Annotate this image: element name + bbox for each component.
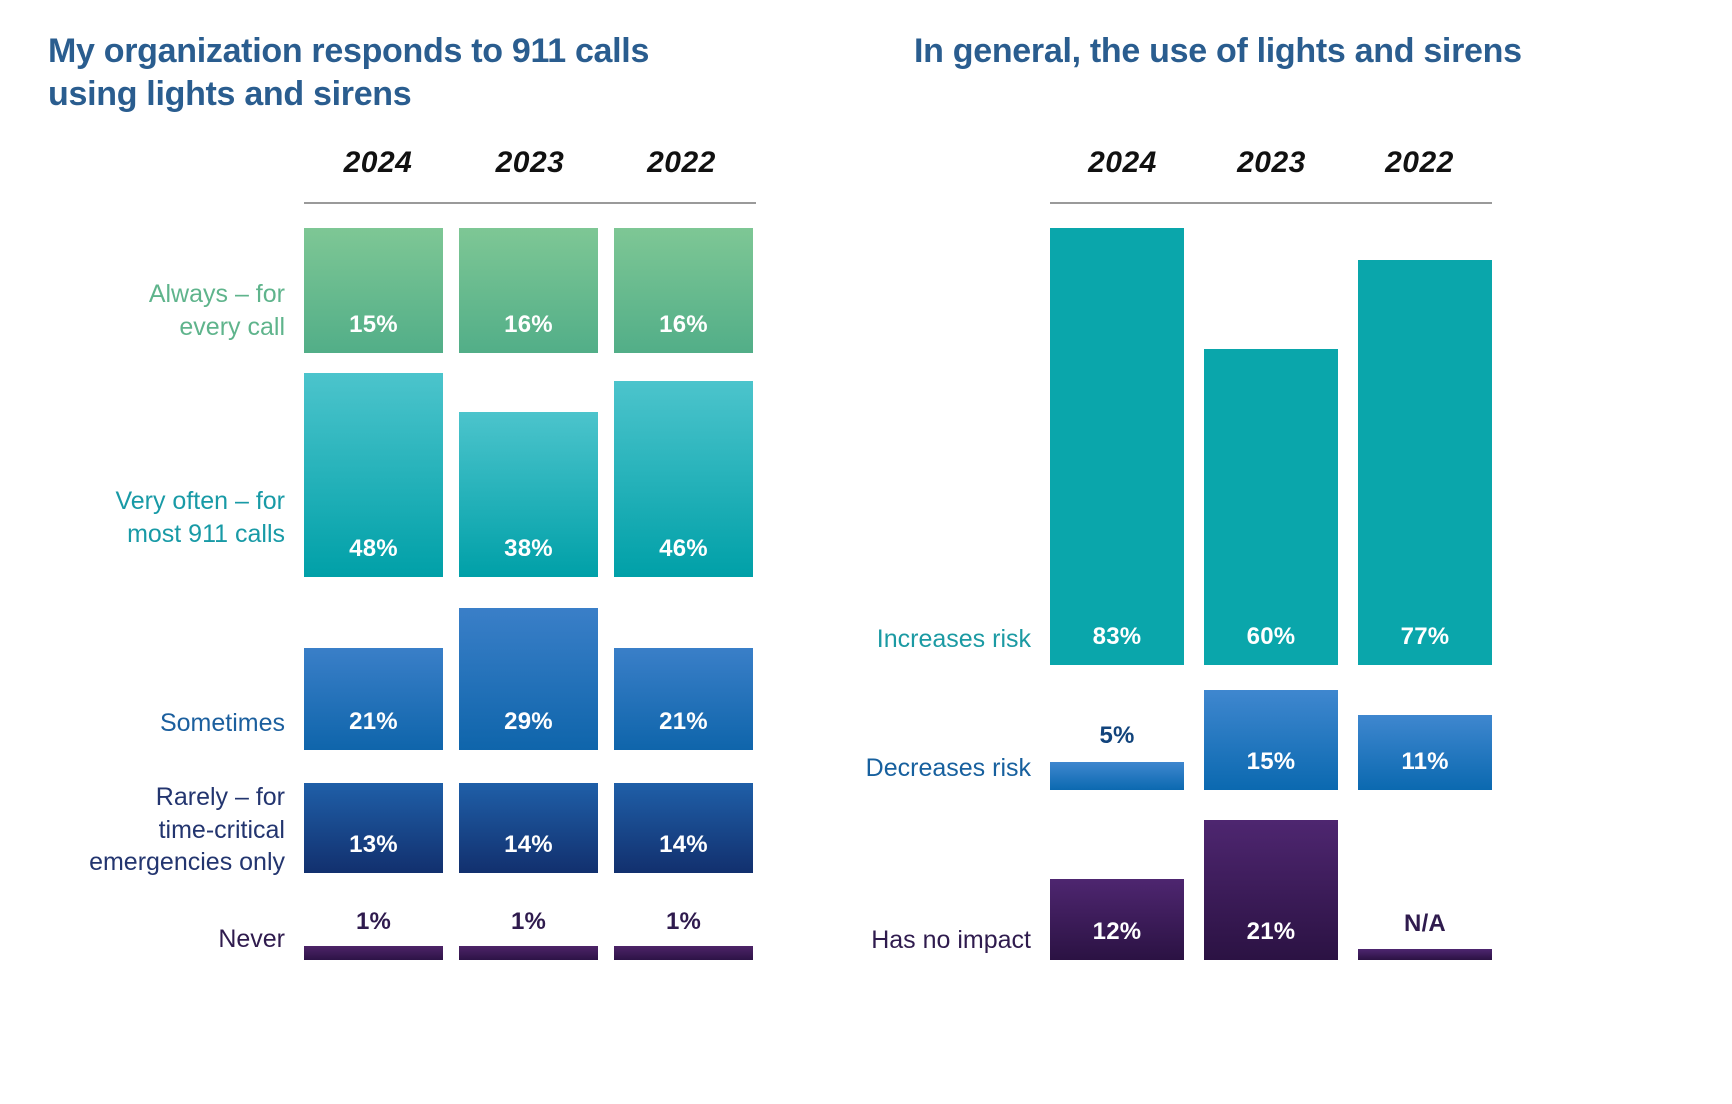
right-plot-area: Increases risk 83% 60% 77% Decreases ris… bbox=[866, 0, 1732, 1104]
right-bar-slot-decreases-2022: 11% bbox=[1358, 690, 1492, 790]
right-bar-slot-increases-2024: 83% bbox=[1050, 228, 1184, 665]
right-row-label-increases-risk: Increases risk bbox=[846, 623, 1031, 656]
right-bar-slot-increases-2023: 60% bbox=[1204, 228, 1338, 665]
right-bar-value-increases-2024: 83% bbox=[1093, 623, 1142, 651]
right-bar-slot-decreases-2023: 15% bbox=[1204, 690, 1338, 790]
right-bar-decreases-2023[interactable]: 15% bbox=[1204, 690, 1338, 790]
left-row-label-always: Always – for every call bbox=[20, 278, 285, 343]
left-bar-value-always-2024: 15% bbox=[349, 311, 398, 339]
left-row-label-sometimes: Sometimes bbox=[20, 707, 285, 740]
left-bar-slot-rarely-2024: 13% bbox=[304, 783, 443, 873]
left-row-sometimes: Sometimes 21% 29% 21% bbox=[0, 608, 866, 750]
left-bar-slot-very-often-2024: 48% bbox=[304, 373, 443, 577]
left-row-never: Never 1% 1% 1% bbox=[0, 900, 866, 960]
left-bar-rarely-2024[interactable]: 13% bbox=[304, 783, 443, 873]
left-bar-very-often-2023[interactable]: 38% bbox=[459, 412, 598, 577]
right-bar-slot-no-impact-2024: 12% bbox=[1050, 820, 1184, 960]
left-bar-slot-always-2024: 15% bbox=[304, 228, 443, 353]
left-bar-never-2023[interactable] bbox=[459, 946, 598, 960]
left-bar-rarely-2022[interactable]: 14% bbox=[614, 783, 753, 873]
left-bar-very-often-2024[interactable]: 48% bbox=[304, 373, 443, 577]
left-bar-slot-sometimes-2024: 21% bbox=[304, 608, 443, 750]
left-bar-value-never-2022: 1% bbox=[614, 908, 753, 936]
right-chart-panel: In general, the use of lights and sirens… bbox=[866, 0, 1732, 1104]
right-bar-value-increases-2022: 77% bbox=[1401, 623, 1450, 651]
left-bar-slot-rarely-2022: 14% bbox=[614, 783, 753, 873]
right-row-label-has-no-impact: Has no impact bbox=[846, 924, 1031, 957]
left-bar-slot-always-2023: 16% bbox=[459, 228, 598, 353]
right-row-increases-risk: Increases risk 83% 60% 77% bbox=[866, 228, 1732, 665]
left-bar-slot-sometimes-2023: 29% bbox=[459, 608, 598, 750]
left-bar-value-rarely-2024: 13% bbox=[349, 831, 398, 859]
left-bar-slot-never-2024: 1% bbox=[304, 900, 443, 960]
right-bar-slot-increases-2022: 77% bbox=[1358, 228, 1492, 665]
left-chart-panel: My organization responds to 911 calls us… bbox=[0, 0, 866, 1104]
left-bar-rarely-2023[interactable]: 14% bbox=[459, 783, 598, 873]
left-bar-slot-rarely-2023: 14% bbox=[459, 783, 598, 873]
left-bar-value-always-2023: 16% bbox=[504, 311, 553, 339]
left-plot-area: Always – for every call 15% 16% 16% Very… bbox=[0, 0, 866, 1104]
left-bar-always-2022[interactable]: 16% bbox=[614, 228, 753, 353]
left-bar-slot-never-2022: 1% bbox=[614, 900, 753, 960]
left-bar-value-very-often-2022: 46% bbox=[659, 535, 708, 563]
right-bar-decreases-2024[interactable] bbox=[1050, 762, 1184, 790]
left-bar-value-rarely-2022: 14% bbox=[659, 831, 708, 859]
right-bar-value-decreases-2022: 11% bbox=[1401, 748, 1448, 776]
right-bar-no-impact-2024[interactable]: 12% bbox=[1050, 879, 1184, 960]
right-bar-no-impact-2023[interactable]: 21% bbox=[1204, 820, 1338, 960]
left-bar-value-very-often-2023: 38% bbox=[504, 535, 553, 563]
left-bar-value-always-2022: 16% bbox=[659, 311, 708, 339]
left-bar-value-rarely-2023: 14% bbox=[504, 831, 553, 859]
right-bar-increases-2023[interactable]: 60% bbox=[1204, 349, 1338, 665]
right-bar-increases-2024[interactable]: 83% bbox=[1050, 228, 1184, 665]
left-bar-value-very-often-2024: 48% bbox=[349, 535, 398, 563]
left-bar-always-2023[interactable]: 16% bbox=[459, 228, 598, 353]
left-bar-slot-sometimes-2022: 21% bbox=[614, 608, 753, 750]
right-bar-decreases-2022[interactable]: 11% bbox=[1358, 715, 1492, 790]
left-bar-value-never-2023: 1% bbox=[459, 908, 598, 936]
left-row-label-never: Never bbox=[20, 923, 285, 956]
right-bar-slot-no-impact-2022: N/A bbox=[1358, 820, 1492, 960]
right-bar-value-decreases-2023: 15% bbox=[1247, 748, 1296, 776]
left-bar-sometimes-2022[interactable]: 21% bbox=[614, 648, 753, 750]
right-bar-value-increases-2023: 60% bbox=[1247, 623, 1296, 651]
left-bar-slot-very-often-2022: 46% bbox=[614, 373, 753, 577]
right-bar-value-decreases-2024: 5% bbox=[1050, 722, 1184, 750]
left-bar-very-often-2022[interactable]: 46% bbox=[614, 381, 753, 577]
left-bar-slot-very-often-2023: 38% bbox=[459, 373, 598, 577]
left-row-always: Always – for every call 15% 16% 16% bbox=[0, 228, 866, 353]
right-bar-value-no-impact-2022: N/A bbox=[1358, 910, 1492, 938]
left-row-very-often: Very often – for most 911 calls 48% 38% … bbox=[0, 373, 866, 577]
right-bar-no-impact-2022[interactable] bbox=[1358, 949, 1492, 960]
right-row-has-no-impact: Has no impact 12% 21% N/A bbox=[866, 820, 1732, 960]
right-row-label-decreases-risk: Decreases risk bbox=[846, 752, 1031, 785]
left-row-rarely: Rarely – for time-critical emergencies o… bbox=[0, 783, 866, 873]
left-bar-never-2024[interactable] bbox=[304, 946, 443, 960]
left-bar-sometimes-2023[interactable]: 29% bbox=[459, 608, 598, 750]
left-bar-sometimes-2024[interactable]: 21% bbox=[304, 648, 443, 750]
left-bar-value-sometimes-2023: 29% bbox=[504, 708, 553, 736]
right-row-decreases-risk: Decreases risk 5% 15% 11% bbox=[866, 690, 1732, 790]
left-bar-value-sometimes-2024: 21% bbox=[349, 708, 398, 736]
left-bar-value-never-2024: 1% bbox=[304, 908, 443, 936]
right-bar-slot-no-impact-2023: 21% bbox=[1204, 820, 1338, 960]
left-row-label-very-often: Very often – for most 911 calls bbox=[20, 485, 285, 550]
right-bar-slot-decreases-2024: 5% bbox=[1050, 690, 1184, 790]
right-bar-value-no-impact-2024: 12% bbox=[1093, 918, 1142, 946]
right-bar-value-no-impact-2023: 21% bbox=[1247, 918, 1296, 946]
left-bar-slot-always-2022: 16% bbox=[614, 228, 753, 353]
left-row-label-rarely: Rarely – for time-critical emergencies o… bbox=[20, 781, 285, 879]
left-bar-never-2022[interactable] bbox=[614, 946, 753, 960]
left-bar-always-2024[interactable]: 15% bbox=[304, 228, 443, 353]
left-bar-value-sometimes-2022: 21% bbox=[659, 708, 708, 736]
right-bar-increases-2022[interactable]: 77% bbox=[1358, 260, 1492, 665]
left-bar-slot-never-2023: 1% bbox=[459, 900, 598, 960]
